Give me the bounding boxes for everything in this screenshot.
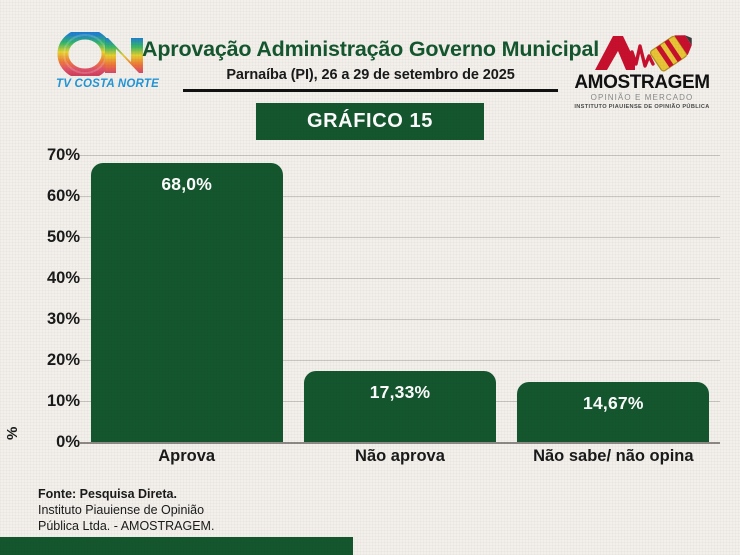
y-axis-tick-label: 20% [20, 352, 80, 368]
gridline [80, 155, 720, 156]
y-axis-tick-label: 50% [20, 229, 80, 245]
bar-value-label: 68,0% [91, 174, 283, 195]
chart-number-banner: GRÁFICO 15 [256, 103, 484, 140]
amostragem-pencil-icon [583, 30, 701, 74]
plot-area: 68,0%17,33%14,67% [80, 155, 720, 442]
source-footer: Fonte: Pesquisa Direta. Instituto Piauie… [38, 486, 378, 534]
bar: 17,33% [304, 371, 496, 442]
x-axis-tick-label: Aprova [80, 447, 293, 466]
page-subtitle: Parnaíba (PI), 26 a 29 de setembro de 20… [128, 65, 613, 85]
y-axis-tick-label: 40% [20, 270, 80, 286]
x-axis-labels: AprovaNão aprovaNão sabe/ não opina [80, 447, 720, 477]
y-axis-tick-label: 30% [20, 311, 80, 327]
bar-value-label: 14,67% [517, 393, 709, 414]
x-axis-tick-label: Não sabe/ não opina [507, 447, 720, 466]
source-line-1: Instituto Piauiense de Opinião [38, 502, 378, 518]
axis-baseline [80, 442, 720, 444]
header: TV COSTA NORTE Aprovação Administração G… [0, 0, 740, 105]
bar-chart: % 70%60%50%40%30%20%10%0% 68,0%17,33%14,… [0, 155, 740, 485]
y-axis-tick-label: 70% [20, 147, 80, 163]
y-axis-tick-label: 0% [20, 434, 80, 450]
page-title: Aprovação Administração Governo Municipa… [128, 36, 613, 62]
y-axis-tick-label: 60% [20, 188, 80, 204]
title-block: Aprovação Administração Governo Municipa… [128, 36, 613, 92]
y-axis-tick-label: 10% [20, 393, 80, 409]
x-axis-tick-label: Não aprova [293, 447, 506, 466]
institute-tagline-label: OPINIÃO E MERCADO [572, 93, 712, 103]
chart-number-label: GRÁFICO 15 [307, 110, 433, 133]
amostragem-logo: AMOSTRAGEM OPINIÃO E MERCADO INSTITUTO P… [572, 30, 712, 111]
source-bold-label: Fonte: Pesquisa Direta. [38, 486, 378, 502]
source-line-2: Pública Ltda. - AMOSTRAGEM. [38, 518, 378, 534]
bar: 14,67% [517, 382, 709, 442]
institute-name-label: AMOSTRAGEM [572, 73, 712, 93]
bottom-accent-bar [0, 537, 353, 555]
institute-fullname-label: INSTITUTO PIAUIENSE DE OPINIÃO PÚBLICA [572, 103, 712, 111]
y-axis-ticks: 70%60%50%40%30%20%10%0% [14, 155, 80, 442]
bar: 68,0% [91, 163, 283, 442]
header-divider [183, 89, 558, 92]
bar-value-label: 17,33% [304, 382, 496, 403]
